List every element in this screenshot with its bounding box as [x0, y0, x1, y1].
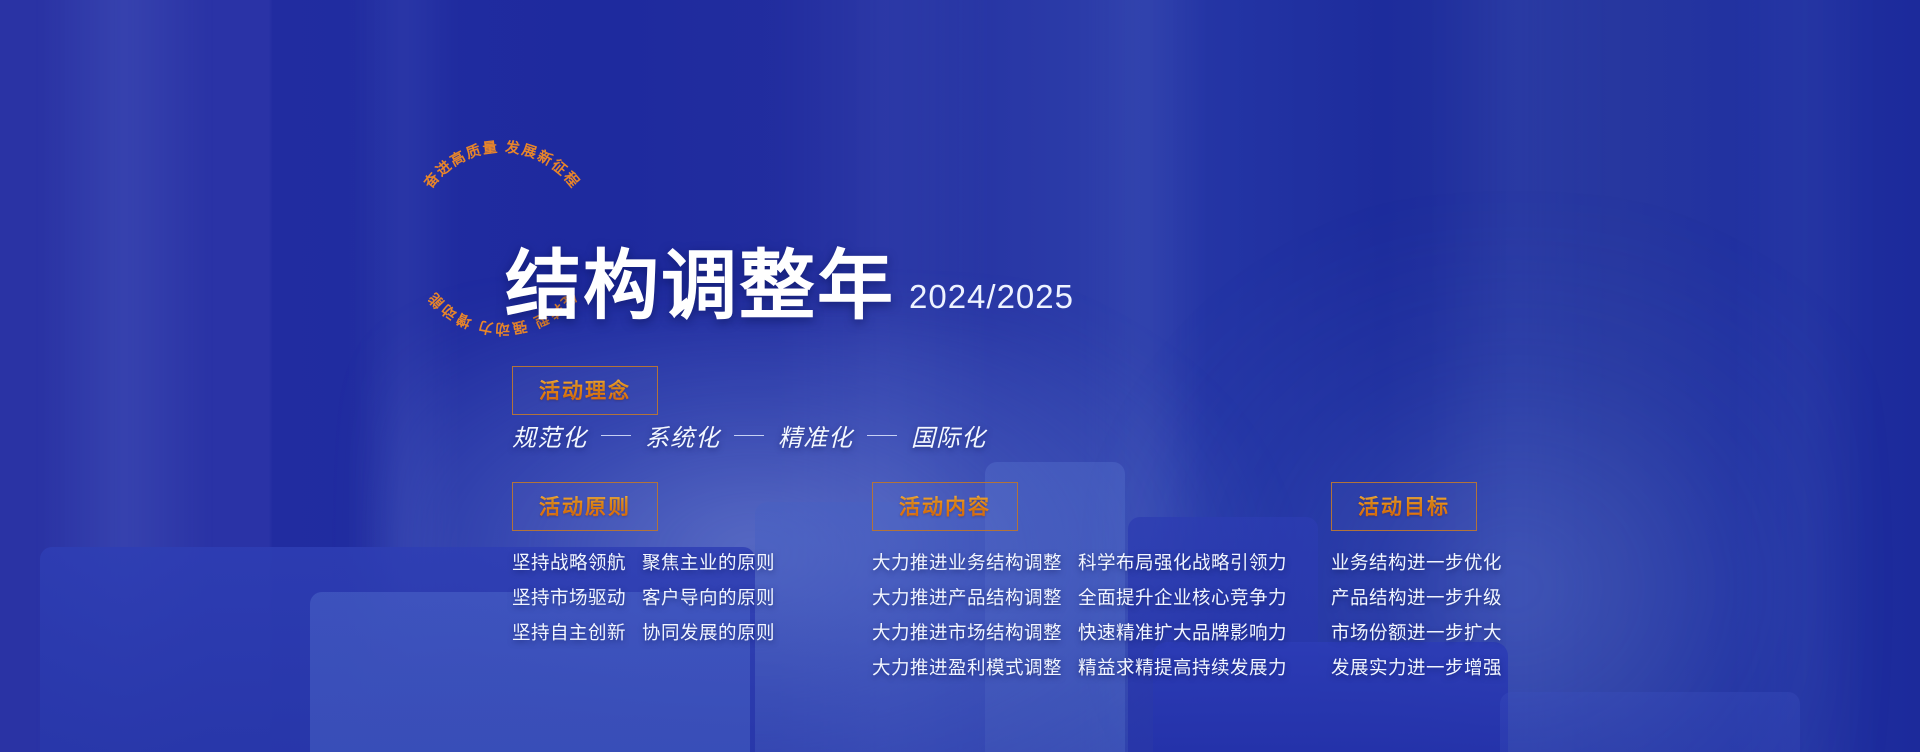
- title-years: 2024/2025: [909, 278, 1074, 324]
- content-left: 大力推进市场结构调整: [872, 619, 1062, 645]
- principles-badge: 活动原则: [512, 482, 658, 531]
- principles-column: 活动原则 坚持战略领航 聚焦主业的原则 坚持市场驱动 客户导向的原则 坚持自主创…: [512, 482, 775, 645]
- list-item: 产品结构进一步升级: [1331, 584, 1502, 610]
- list-item: 市场份额进一步扩大: [1331, 619, 1502, 645]
- contents-badge-label: 活动内容: [899, 491, 991, 521]
- concept-item-1: 系统化: [645, 418, 720, 453]
- list-item: 业务结构进一步优化: [1331, 549, 1502, 575]
- contents-column: 活动内容 大力推进业务结构调整 科学布局强化战略引领力 大力推进产品结构调整 全…: [872, 482, 1287, 680]
- principles-list: 坚持战略领航 聚焦主业的原则 坚持市场驱动 客户导向的原则 坚持自主创新 协同发…: [512, 549, 775, 645]
- goals-list: 业务结构进一步优化 产品结构进一步升级 市场份额进一步扩大 发展实力进一步增强: [1331, 549, 1502, 680]
- concept-item-0: 规范化: [512, 418, 587, 453]
- concept-item-3: 国际化: [911, 418, 986, 453]
- list-item: 大力推进业务结构调整 科学布局强化战略引领力: [872, 549, 1287, 575]
- principle-right: 协同发展的原则: [642, 619, 775, 645]
- concept-item-2: 精准化: [778, 418, 853, 453]
- concept-badge-label: 活动理念: [539, 375, 631, 405]
- concept-separator-icon: [601, 435, 631, 437]
- goal-text: 市场份额进一步扩大: [1331, 619, 1502, 645]
- content-right: 科学布局强化战略引领力: [1078, 549, 1287, 575]
- content-right: 精益求精提高持续发展力: [1078, 654, 1287, 680]
- list-item: 坚持自主创新 协同发展的原则: [512, 619, 775, 645]
- list-item: 大力推进市场结构调整 快速精准扩大品牌影响力: [872, 619, 1287, 645]
- principles-badge-label: 活动原则: [539, 491, 631, 521]
- goals-column: 活动目标 业务结构进一步优化 产品结构进一步升级 市场份额进一步扩大 发展实力进…: [1331, 482, 1502, 680]
- circle-text-top: 奋进高质量 发展新征程: [419, 138, 583, 193]
- content-right: 快速精准扩大品牌影响力: [1078, 619, 1287, 645]
- concept-badge: 活动理念: [512, 366, 658, 415]
- list-item: 大力推进盈利模式调整 精益求精提高持续发展力: [872, 654, 1287, 680]
- content-left: 大力推进产品结构调整: [872, 584, 1062, 610]
- concept-separator-icon: [734, 435, 764, 437]
- title-block: 结构调整年 2024/2025: [505, 248, 1074, 324]
- principle-left: 坚持自主创新: [512, 619, 626, 645]
- principle-left: 坚持战略领航: [512, 549, 626, 575]
- list-item: 发展实力进一步增强: [1331, 654, 1502, 680]
- goals-badge-label: 活动目标: [1358, 491, 1450, 521]
- concept-separator-icon: [867, 435, 897, 437]
- page-title: 结构调整年: [505, 248, 895, 324]
- list-item: 坚持市场驱动 客户导向的原则: [512, 584, 775, 610]
- list-item: 大力推进产品结构调整 全面提升企业核心竞争力: [872, 584, 1287, 610]
- contents-badge: 活动内容: [872, 482, 1018, 531]
- principle-right: 客户导向的原则: [642, 584, 775, 610]
- banner-root: 奋进高质量 发展新征程 促转型 强动力 增动能 结构调整年 2024/2025 …: [0, 0, 1920, 752]
- content-left: 大力推进业务结构调整: [872, 549, 1062, 575]
- list-item: 坚持战略领航 聚焦主业的原则: [512, 549, 775, 575]
- content-left: 大力推进盈利模式调整: [872, 654, 1062, 680]
- contents-list: 大力推进业务结构调整 科学布局强化战略引领力 大力推进产品结构调整 全面提升企业…: [872, 549, 1287, 680]
- goal-text: 产品结构进一步升级: [1331, 584, 1502, 610]
- goal-text: 业务结构进一步优化: [1331, 549, 1502, 575]
- concept-items: 规范化 系统化 精准化 国际化: [512, 418, 986, 453]
- content-right: 全面提升企业核心竞争力: [1078, 584, 1287, 610]
- principle-left: 坚持市场驱动: [512, 584, 626, 610]
- goals-badge: 活动目标: [1331, 482, 1477, 531]
- goal-text: 发展实力进一步增强: [1331, 654, 1502, 680]
- principle-right: 聚焦主业的原则: [642, 549, 775, 575]
